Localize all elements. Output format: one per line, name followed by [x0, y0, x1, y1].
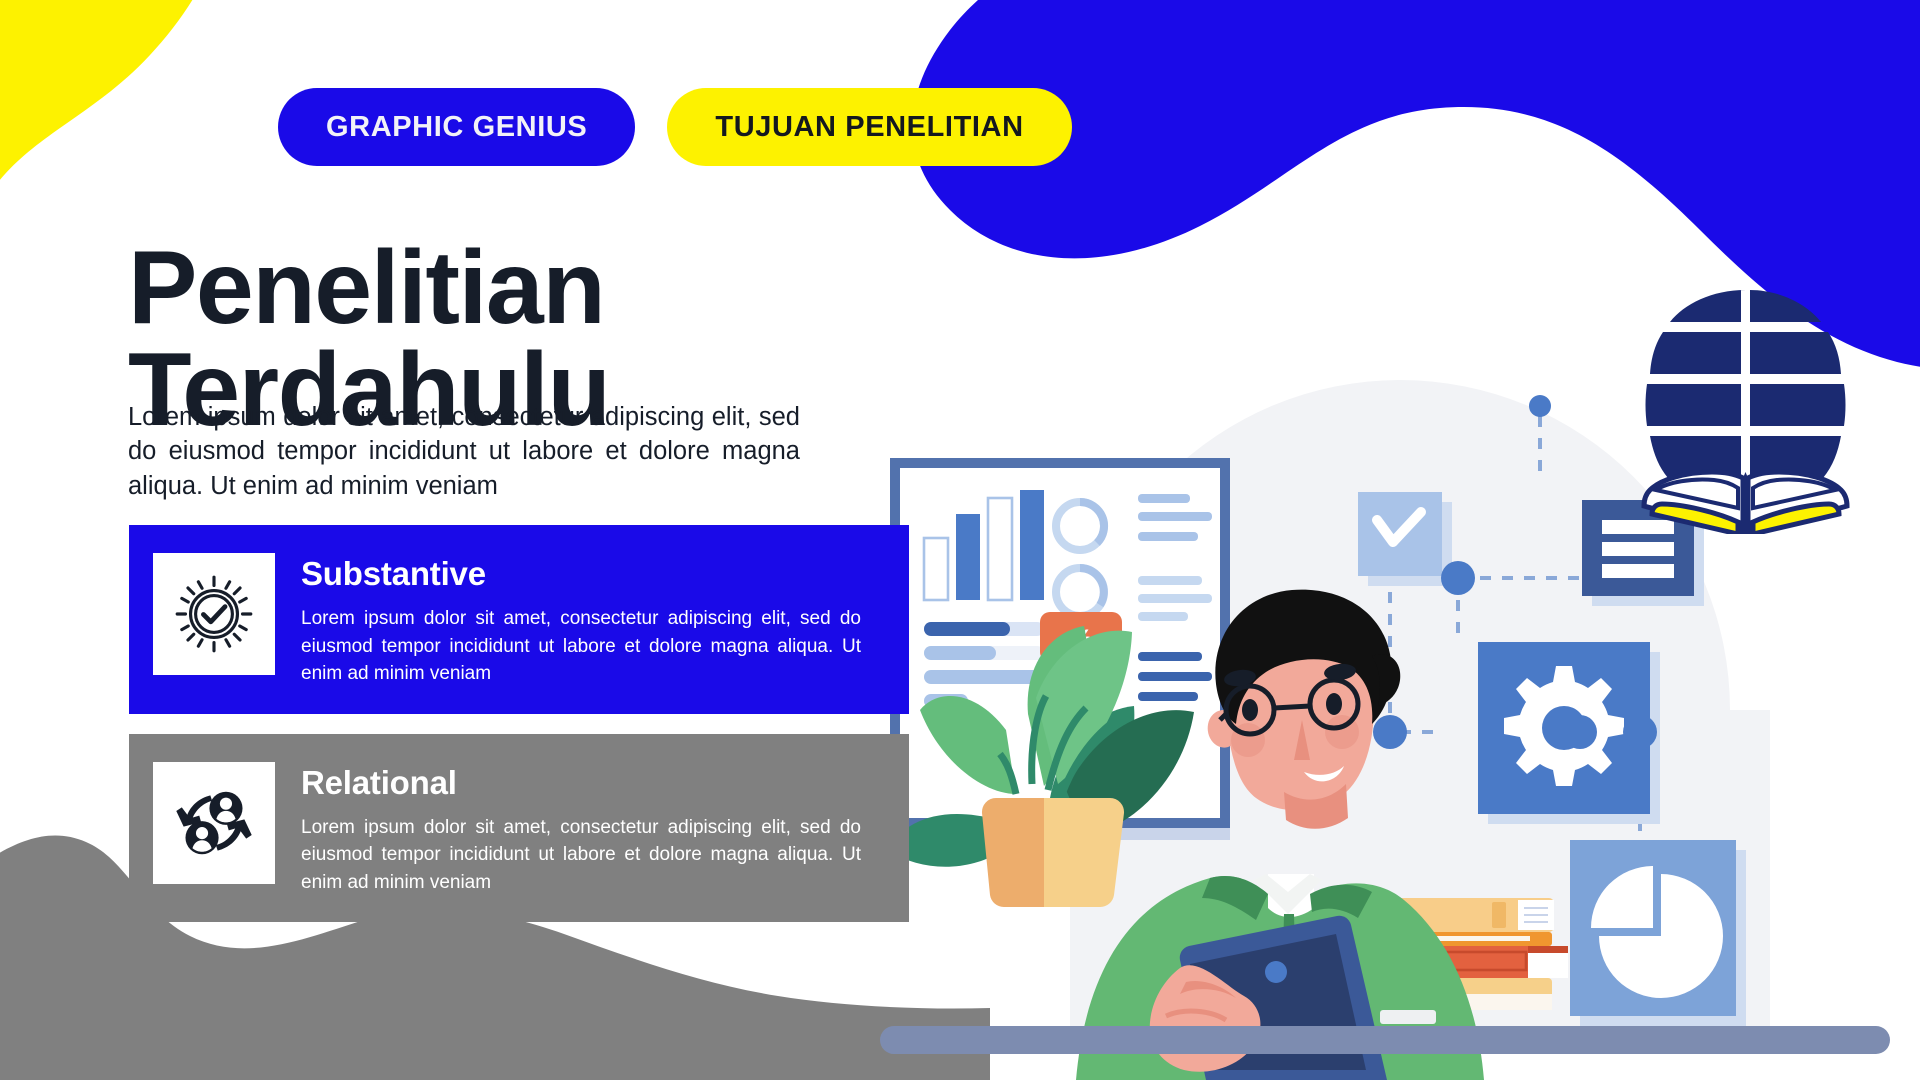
feature-card-list: Substantive Lorem ipsum dolor sit amet, …: [129, 525, 909, 922]
university-logo: [1638, 282, 1853, 534]
gear-icon: [1504, 666, 1624, 786]
people-exchange-icon-frame: [153, 762, 275, 884]
feature-card-relational-text: Lorem ipsum dolor sit amet, consectetur …: [301, 814, 861, 897]
badge-tujuan-penelitian[interactable]: TUJUAN PENELITIAN: [667, 88, 1071, 166]
feature-card-substantive-text: Lorem ipsum dolor sit amet, consectetur …: [301, 605, 861, 688]
pie-chart-tile: [1570, 840, 1746, 1026]
desk-bar: [880, 1026, 1890, 1054]
logo-book: [1644, 472, 1847, 534]
feature-card-relational[interactable]: Relational Lorem ipsum dolor sit amet, c…: [129, 734, 909, 923]
check-tile: [1358, 492, 1452, 586]
feature-card-substantive[interactable]: Substantive Lorem ipsum dolor sit amet, …: [129, 525, 909, 714]
slide-canvas: GRAPHIC GENIUS TUJUAN PENELITIAN Penelit…: [0, 0, 1920, 1080]
verified-badge-icon-frame: [153, 553, 275, 675]
badge-graphic-genius[interactable]: GRAPHIC GENIUS: [278, 88, 635, 166]
page-title-line-1: Penelitian: [128, 238, 609, 340]
badge-graphic-genius-label: GRAPHIC GENIUS: [326, 111, 587, 144]
lead-paragraph: Lorem ipsum dolor sit amet, consectetur …: [128, 400, 800, 504]
verified-badge-icon: [168, 568, 260, 660]
badge-tujuan-penelitian-label: TUJUAN PENELITIAN: [715, 111, 1023, 144]
feature-card-substantive-body: Substantive Lorem ipsum dolor sit amet, …: [301, 553, 861, 688]
badge-row: GRAPHIC GENIUS TUJUAN PENELITIAN: [278, 88, 1072, 166]
feature-card-substantive-title: Substantive: [301, 555, 861, 593]
people-exchange-icon: [168, 777, 260, 869]
feature-card-relational-body: Relational Lorem ipsum dolor sit amet, c…: [301, 762, 861, 897]
feature-card-relational-title: Relational: [301, 764, 861, 802]
